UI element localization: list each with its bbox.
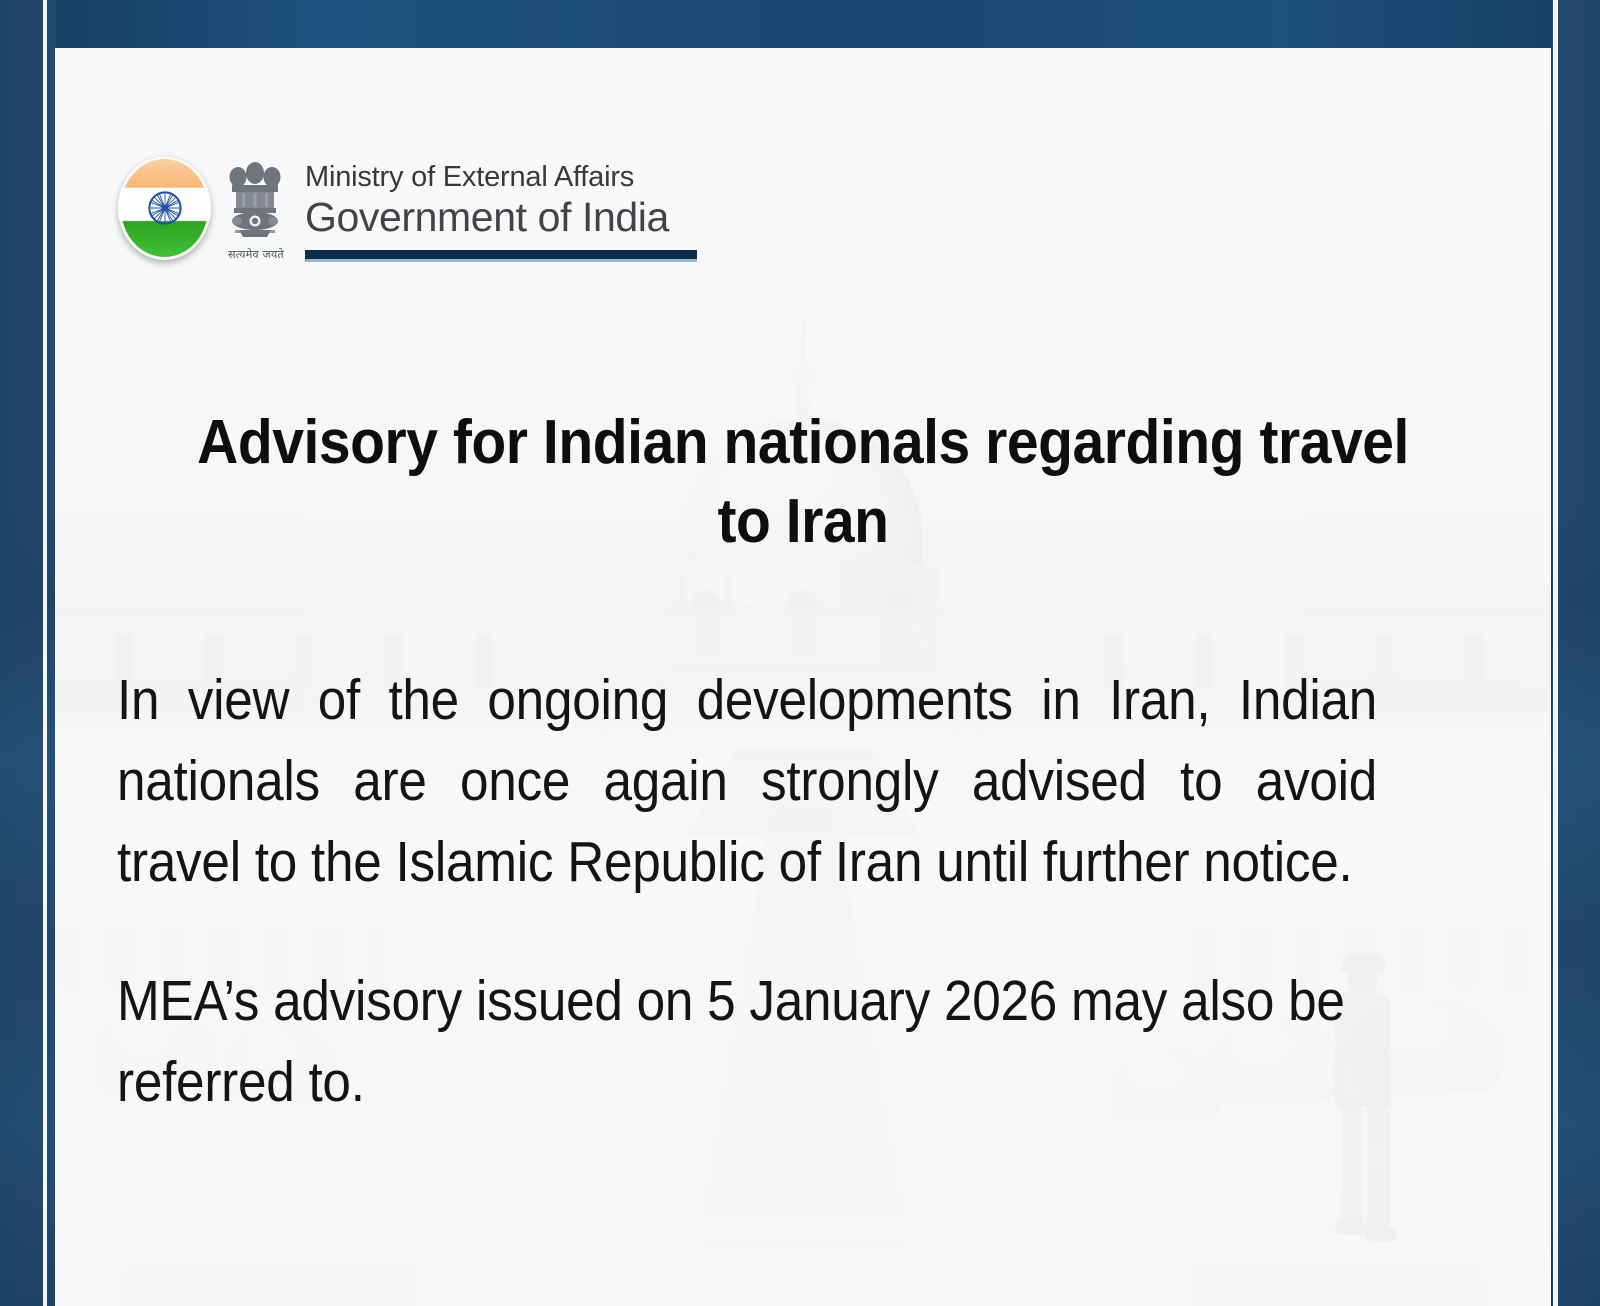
advisory-body: In view of the ongoing developments in I… — [117, 660, 1377, 1123]
emblem-motto: सत्यमेव जयते — [223, 247, 289, 262]
organisation-block: Ministry of External Affairs Government … — [305, 156, 697, 259]
advisory-paragraph-1: In view of the ongoing developments in I… — [117, 660, 1377, 903]
masthead-rule — [305, 250, 697, 259]
ministry-name: Ministry of External Affairs — [305, 162, 697, 194]
page-title: Advisory for Indian nationals regarding … — [187, 403, 1420, 562]
frame-streak-right — [1552, 0, 1600, 1306]
ashoka-chakra-icon — [148, 191, 182, 225]
masthead: सत्यमेव जयते Ministry of External Affair… — [118, 156, 697, 262]
state-emblem-of-india-icon: सत्यमेव जयते — [223, 160, 289, 262]
advisory-graphic: सत्यमेव जयते Ministry of External Affair… — [0, 0, 1600, 1306]
advisory-paragraph-2: MEA’s advisory issued on 5 January 2026 … — [117, 961, 1377, 1123]
frame-hairline-right — [1553, 0, 1558, 1306]
frame-hairline-left — [43, 0, 47, 1306]
frame-streak-left — [0, 0, 56, 1306]
india-flag-roundel-icon — [118, 156, 211, 260]
advisory-card: सत्यमेव जयते Ministry of External Affair… — [55, 48, 1551, 1306]
government-name: Government of India — [305, 195, 697, 241]
